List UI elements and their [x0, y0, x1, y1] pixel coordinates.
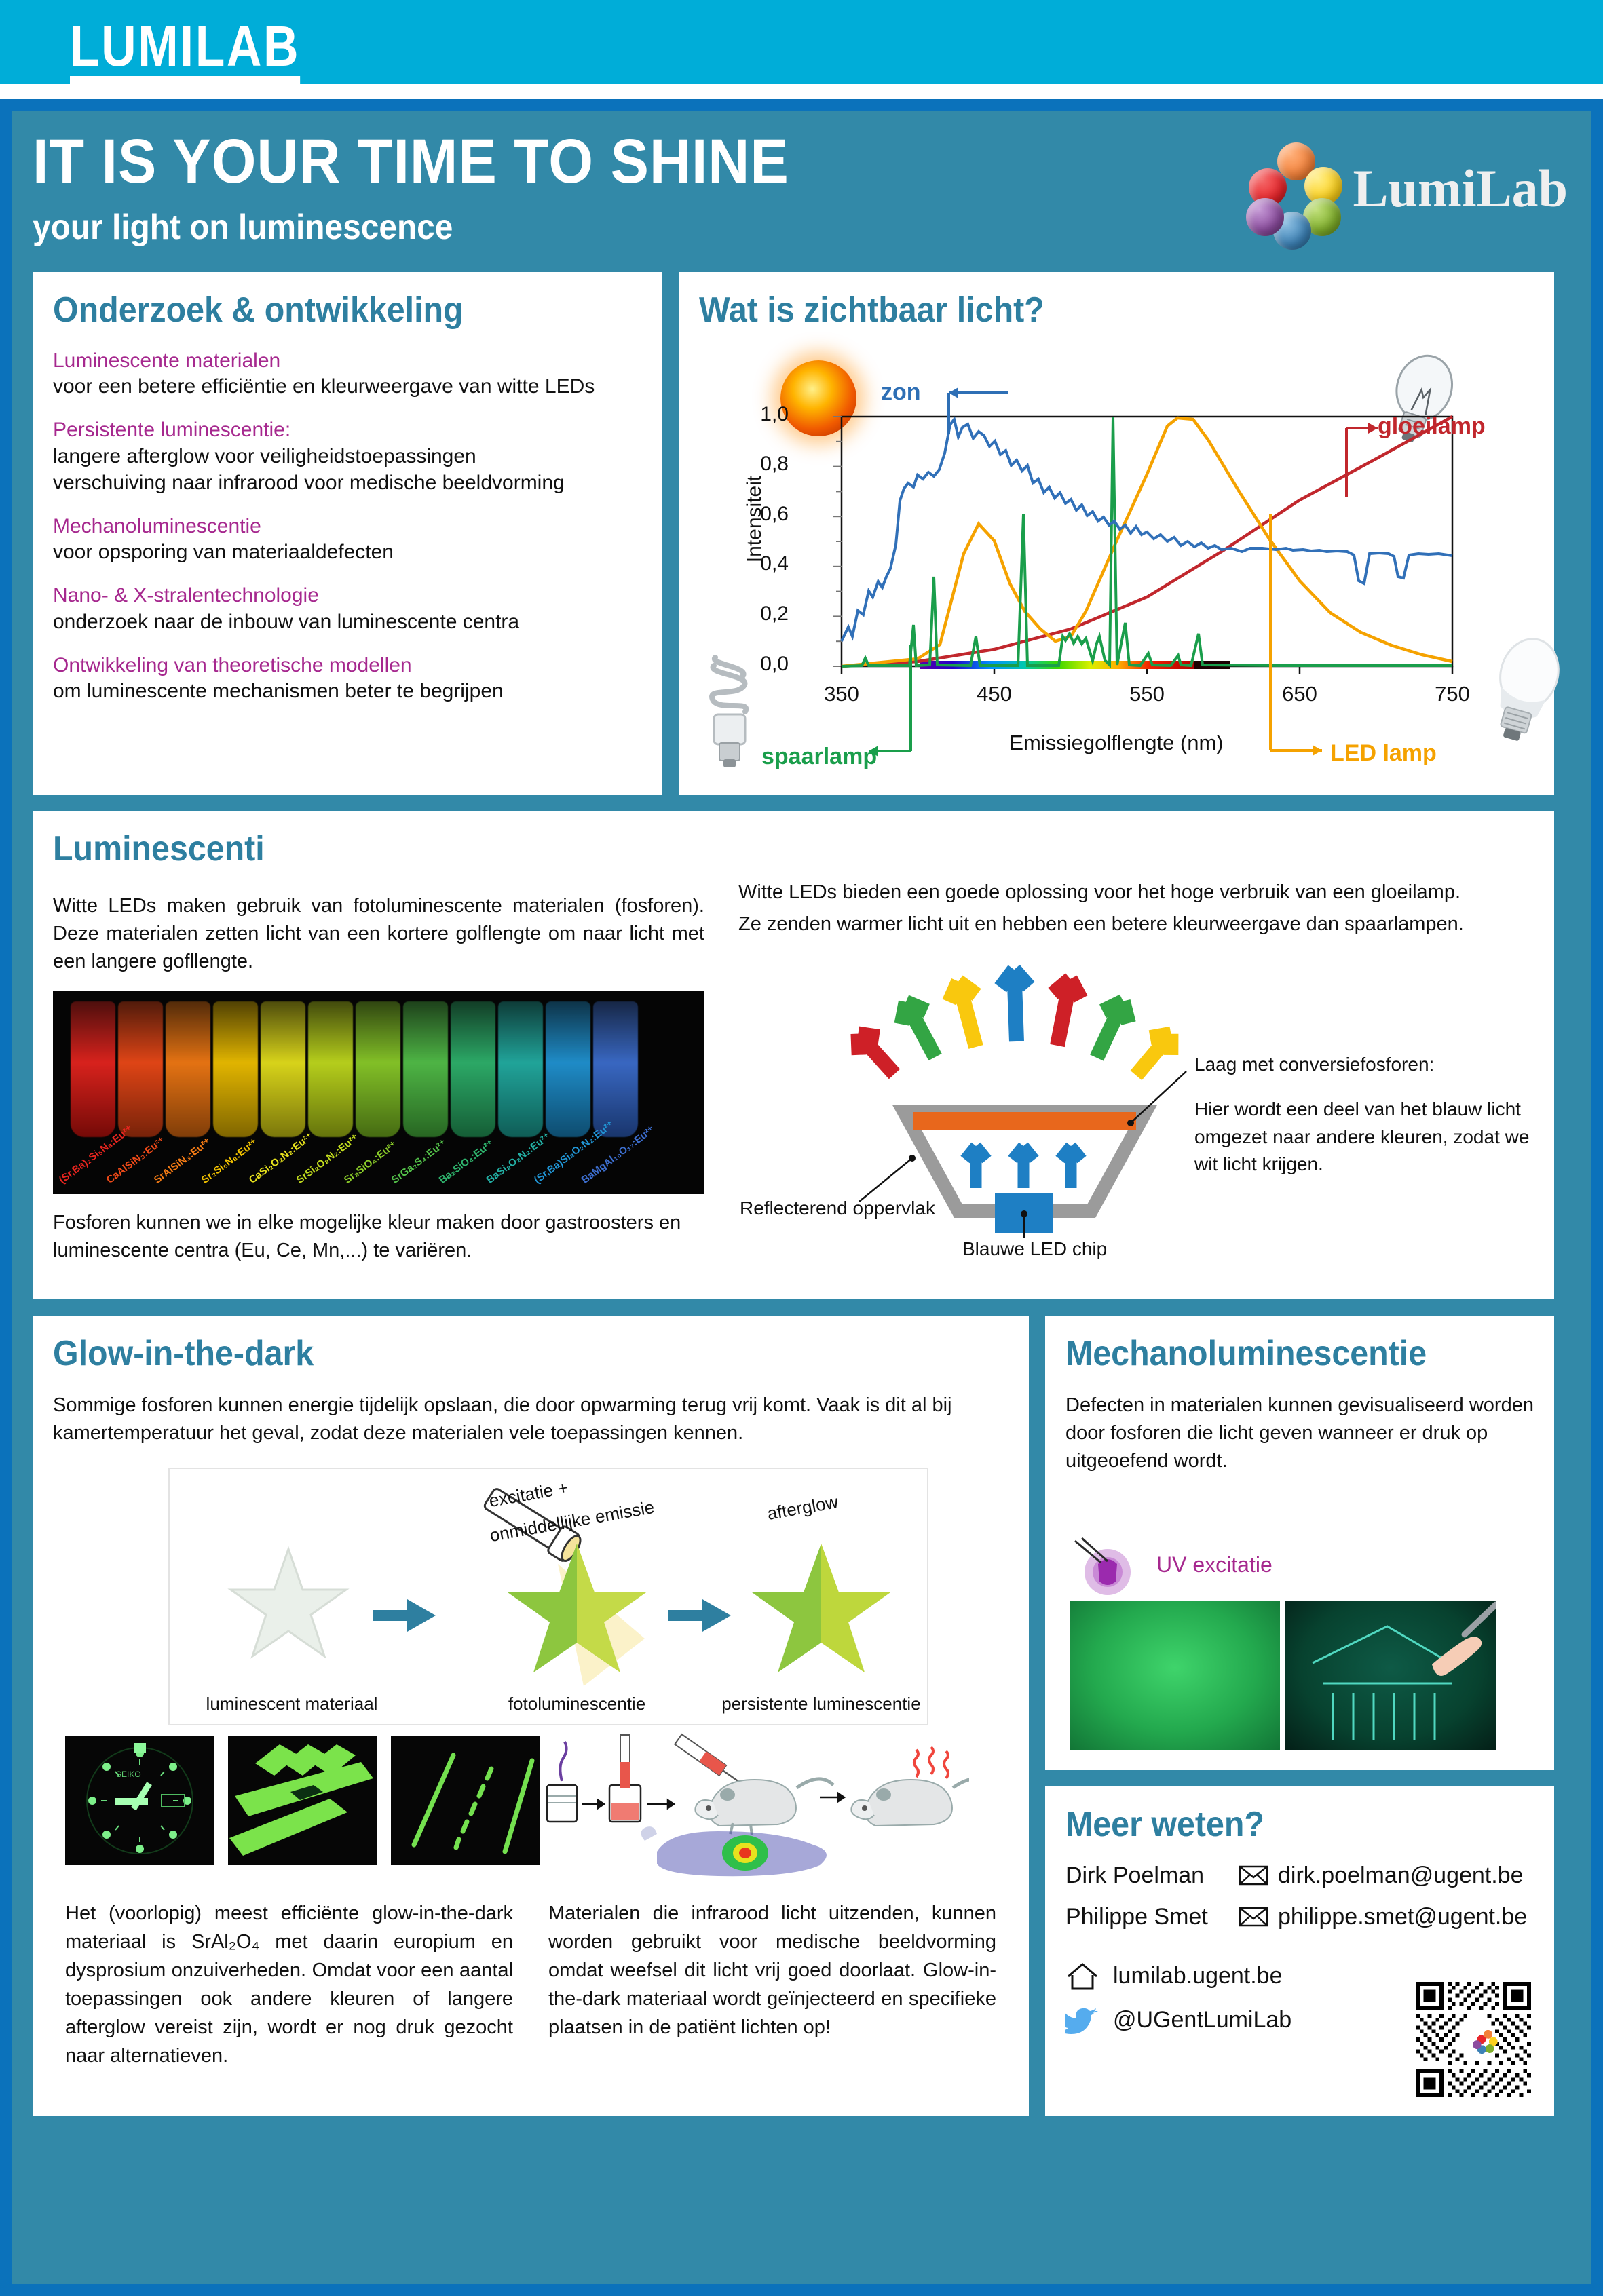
research-topic: Mechanoluminescentie voor opsporing van … [53, 514, 642, 566]
lumilab-wordmark: LUMILAB [70, 18, 300, 84]
vial [356, 1001, 400, 1137]
callout-reflector: Reflecterend oppervlak [740, 1198, 935, 1219]
glow-photo-watch: SEIKO [65, 1736, 214, 1865]
vial [498, 1001, 543, 1137]
spectrum-heading: Wat is zichtbaar licht? [699, 290, 1475, 330]
luminescenti-row: Luminescenti Witte LEDs maken gebruik va… [33, 811, 1570, 1299]
led-leader-line [1258, 514, 1346, 759]
glow-process-diagram: excitatie + onmiddellijke emissie afterg… [168, 1468, 928, 1725]
home-icon [1065, 1962, 1099, 1991]
vial [451, 1001, 495, 1137]
x-tick-label: 450 [957, 682, 1032, 706]
poster-frame: IT IS YOUR TIME TO SHINE your light on l… [0, 99, 1603, 2296]
twitter-handle[interactable]: @UGentLumiLab [1113, 2007, 1291, 2033]
twitter-icon [1065, 2006, 1099, 2035]
led-cross-section-diagram: Laag met conversiefosforen: Hier wordt e… [738, 945, 1532, 1264]
website-url[interactable]: lumilab.ugent.be [1113, 1963, 1283, 1989]
bottom-row: Glow-in-the-dark Sommige fosforen kunnen… [33, 1316, 1570, 2116]
glow-photo-strips [391, 1736, 540, 1865]
spectrum-card: Wat is zichtbaar licht? [679, 272, 1554, 795]
top-brand-bar: LUMILAB [0, 0, 1603, 84]
topic-title: Mechanoluminescentie [53, 514, 642, 539]
poster-inner: IT IS YOUR TIME TO SHINE your light on l… [12, 111, 1591, 2284]
vial [261, 1001, 305, 1137]
topic-title: Nano- & X-stralentechnologie [53, 583, 642, 609]
glow-text-right: Materialen die infrarood licht uitzenden… [548, 1899, 996, 2042]
contact-email[interactable]: dirk.poelman@ugent.be [1278, 1862, 1524, 1889]
mechano-photo-scratched [1285, 1601, 1496, 1750]
glow-card: Glow-in-the-dark Sommige fosforen kunnen… [33, 1316, 1029, 2116]
research-card: Onderzoek & ontwikkeling Luminescente ma… [33, 272, 662, 795]
svg-text:SEIKO: SEIKO [116, 1769, 141, 1779]
research-topic: Nano- & X-stralentechnologie onderzoek n… [53, 583, 642, 635]
uv-label: UV excitatie [1156, 1552, 1272, 1577]
topic-desc: langere afterglow voor veiligheidstoepas… [53, 443, 642, 470]
topic-desc: onderzoek naar de inbouw van luminescent… [53, 609, 642, 635]
vial [308, 1001, 353, 1137]
mechano-photo-uncharged [1070, 1601, 1280, 1750]
y-tick-label: 0,0 [734, 653, 789, 676]
research-topic: Ontwikkeling van theoretische modellen o… [53, 653, 642, 705]
x-tick-label: 550 [1110, 682, 1184, 706]
topic-title: Ontwikkeling van theoretische modellen [53, 653, 642, 678]
luminescenti-card: Luminescenti Witte LEDs maken gebruik va… [33, 811, 1554, 1299]
logo-text: LumiLab [1353, 158, 1568, 219]
research-heading: Onderzoek & ontwikkeling [53, 290, 601, 330]
lumilab-logo: LumiLab [1228, 134, 1568, 243]
contact-heading: Meer weten? [1065, 1804, 1501, 1845]
phosphor-vials-photo: (Sr,Ba)₂Si₅N₈:Eu²⁺ CaAlSiN₃:Eu²⁺ SrAlSiN… [53, 991, 704, 1194]
y-axis-label: Intensiteit [743, 475, 766, 562]
gloeilamp-leader-line [1330, 416, 1405, 504]
vial [166, 1001, 210, 1137]
contact-email[interactable]: philippe.smet@ugent.be [1278, 1904, 1527, 1930]
topic-desc: voor een betere efficiëntie en kleurweer… [53, 373, 642, 400]
topic-desc: om luminescente mechanismen beter te beg… [53, 678, 642, 704]
medical-imaging-illustration [535, 1723, 969, 1879]
qr-code-svg [1416, 1982, 1531, 2097]
glow-intro: Sommige fosforen kunnen energie tijdelij… [53, 1392, 1008, 1447]
mechano-heading: Mechanoluminescentie [1065, 1333, 1501, 1374]
luminescenti-left-text: Witte LEDs maken gebruik van fotolumines… [53, 892, 704, 976]
topic-title: Persistente luminescentie: [53, 417, 642, 443]
logo-dots-icon [1228, 134, 1337, 243]
mechano-text: Defecten in materialen kunnen gevisualis… [1065, 1392, 1534, 1476]
vial [213, 1001, 258, 1137]
vial [546, 1001, 590, 1137]
vial [118, 1001, 163, 1137]
step-label-3: persistente luminescentie [719, 1694, 923, 1715]
qr-code[interactable] [1416, 1982, 1531, 2097]
topic-desc: verschuiving naar infrarood voor medisch… [53, 470, 642, 496]
glow-photo-tape [228, 1736, 377, 1865]
uv-led-icon [1070, 1533, 1144, 1598]
research-topic: Persistente luminescentie: langere after… [53, 417, 642, 496]
luminescenti-right-text-1: Witte LEDs bieden een goede oplossing vo… [738, 879, 1532, 906]
contact-name: Dirk Poelman [1065, 1862, 1239, 1889]
vial [593, 1001, 638, 1137]
contact-card: Meer weten? Dirk Poelman dirk.poelman@ug… [1045, 1786, 1554, 2116]
luminescenti-heading: Luminescenti [53, 828, 1430, 869]
topic-desc: voor opsporing van materiaaldefecten [53, 539, 642, 565]
spaarlamp-leader-line [855, 645, 937, 761]
callout-blue-chip: Blauwe LED chip [962, 1238, 1107, 1260]
step-label-2: fotoluminescentie [482, 1694, 672, 1715]
research-topic: Luminescente materialen voor een betere … [53, 348, 642, 400]
mechano-card: Mechanoluminescentie Defecten in materia… [1045, 1316, 1554, 1770]
x-tick-label: 750 [1415, 682, 1490, 706]
y-tick-label: 1,0 [734, 403, 789, 426]
y-tick-label: 0,2 [734, 602, 789, 626]
mail-icon [1239, 1906, 1268, 1928]
callout-phosphor-desc: Hier wordt een deel van het blauw licht … [1194, 1096, 1534, 1179]
contact-person-row: Philippe Smet philippe.smet@ugent.be [1065, 1904, 1534, 1930]
spectrum-chart: 0,0 0,2 0,4 0,6 0,8 1,0 /*ytick offsets … [699, 348, 1534, 776]
topic-title: Luminescente materialen [53, 348, 642, 374]
mail-icon [1239, 1864, 1268, 1886]
annotation-zon: zon [881, 379, 921, 406]
zon-leader-line [923, 383, 1011, 438]
luminescenti-right-text-2: Ze zenden warmer licht uit en hebben een… [738, 911, 1532, 938]
callout-phosphor-layer: Laag met conversiefosforen: [1194, 1054, 1434, 1075]
contact-person-row: Dirk Poelman dirk.poelman@ugent.be [1065, 1862, 1534, 1889]
step-label-1: luminescent materiaal [197, 1694, 387, 1715]
luminescenti-left-caption: Fosforen kunnen we in elke mogelijke kle… [53, 1209, 704, 1265]
glow-text-left: Het (voorlopig) meest efficiënte glow-in… [65, 1899, 513, 2070]
glow-heading: Glow-in-the-dark [53, 1333, 941, 1374]
vial [71, 1001, 115, 1137]
contact-name: Philippe Smet [1065, 1904, 1239, 1930]
y-tick-label: 0,8 [734, 453, 789, 476]
vial [403, 1001, 448, 1137]
